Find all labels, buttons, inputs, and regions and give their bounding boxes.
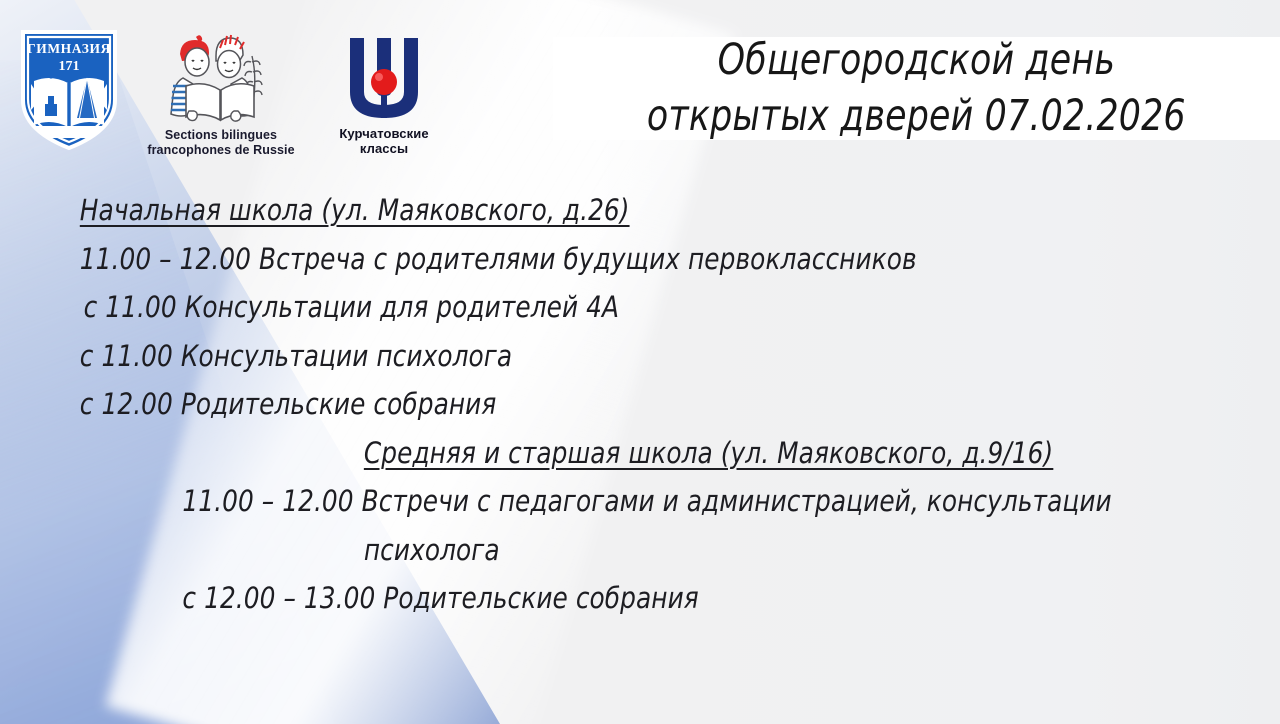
schedule-item-primary-2: с 11.00 Консультации для родителей 4А: [0, 283, 1216, 332]
logo-gymnasium-171: ГИМНАЗИЯ 171: [14, 26, 124, 159]
schedule-item-secondary-3: с 12.00 – 13.00 Родительские собрания: [0, 574, 1216, 623]
kurchatov-caption-line2: классы: [316, 141, 452, 156]
two-readers-icon: [156, 28, 286, 128]
schedule-body: Начальная школа (ул. Маяковского, д.26) …: [0, 186, 1280, 623]
logo-kurchatov-classes: Курчатовские классы: [316, 34, 452, 156]
logo-sections-bilingues: Sections bilingues francophones de Russi…: [132, 28, 310, 157]
sections-caption-line1: Sections bilingues: [132, 128, 310, 143]
section-heading-primary: Начальная школа (ул. Маяковского, д.26): [0, 186, 1216, 235]
schedule-item-primary-4: с 12.00 Родительские собрания: [0, 380, 1216, 429]
kurchatov-caption-line1: Курчатовские: [316, 126, 452, 141]
logo-kurchatov-caption: Курчатовские классы: [316, 126, 452, 156]
slide-root: ГИМНАЗИЯ 171: [0, 0, 1280, 724]
schedule-item-secondary-1: 11.00 – 12.00 Встречи с педагогами и адм…: [0, 477, 1216, 526]
svg-text:ГИМНАЗИЯ: ГИМНАЗИЯ: [27, 41, 111, 56]
schedule-item-primary-1: 11.00 – 12.00 Встреча с родителями будущ…: [0, 235, 1216, 284]
svg-text:171: 171: [59, 59, 80, 74]
sections-caption-line2: francophones de Russie: [132, 143, 310, 158]
logo-bar: ГИМНАЗИЯ 171: [0, 0, 560, 180]
section-heading-secondary: Средняя и старшая школа (ул. Маяковского…: [0, 429, 1216, 478]
gymnasium-shield-icon: ГИМНАЗИЯ 171: [17, 26, 121, 154]
schedule-item-primary-3: с 11.00 Консультации психолога: [0, 332, 1216, 381]
kurchatov-emblem-icon: [334, 34, 434, 126]
schedule-item-secondary-2: психолога: [0, 526, 1216, 575]
logo-sections-caption: Sections bilingues francophones de Russi…: [132, 128, 310, 157]
page-title: Общегородской день открытых дверей 07.02…: [647, 33, 1186, 143]
title-box: Общегородской день открытых дверей 07.02…: [553, 37, 1280, 140]
